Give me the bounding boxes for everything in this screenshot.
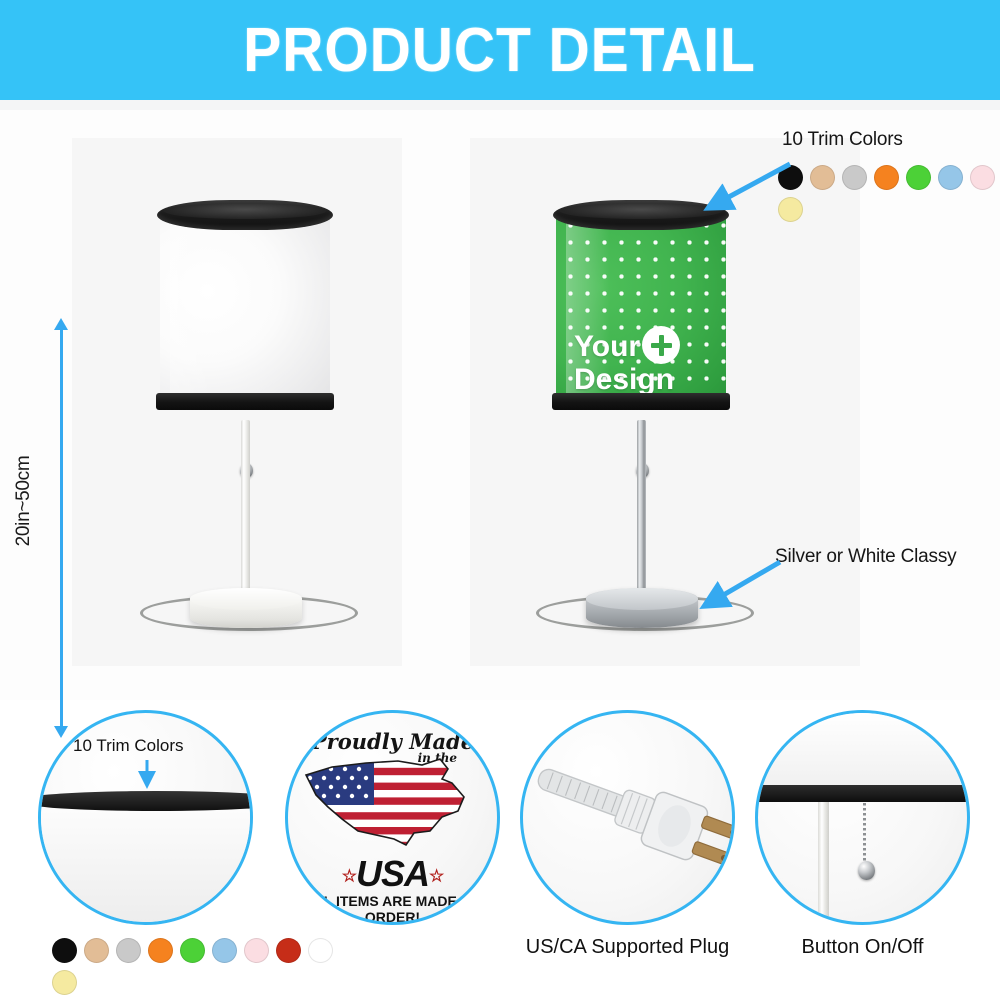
trim-swatch-gray[interactable] [116,938,141,963]
lamp-pole [818,802,829,925]
design-line-2: Design [556,363,726,396]
usa-badge: Proudly Made in the [288,713,497,922]
base-finish-label: Silver or White Classy [775,546,956,568]
made-in-usa-feature-circle: Proudly Made in the [285,710,500,925]
main-product-stage: 7in~18cm 20in~50cm [0,110,1000,700]
page-title: PRODUCT DETAIL [244,15,756,86]
pull-chain-ball[interactable] [858,861,875,880]
design-line-1: Your [556,330,726,363]
trim-swatch-green[interactable] [906,165,931,190]
usa-map-flag-icon [302,753,474,849]
feature-circle-row: 10 Trim Colors Proudly Made in the [0,700,1000,1000]
usa-sub-text: ALL ITEMS ARE MADE TO ORDER! [288,893,497,925]
star-icon-left: ☆ [342,866,356,885]
trim-swatch-white[interactable] [308,938,333,963]
shade-top-trim-inner [164,203,326,219]
shade-surface [38,801,253,925]
shade-surface [160,212,330,410]
plug-feature-circle [520,710,735,925]
switch-feature-circle [755,710,970,925]
trim-swatch-light-blue[interactable] [938,165,963,190]
power-plug-icon [523,713,732,922]
trim-swatch-orange[interactable] [148,938,173,963]
trim-swatch-pale-yellow[interactable] [52,970,77,995]
trim-swatch-light-blue[interactable] [212,938,237,963]
shade-bottom-trim [156,393,334,410]
shade-bottom-trim [552,393,730,410]
trim-color-swatch-row-3 [52,938,333,963]
shade-surface [755,713,970,793]
trim-swatch-gray[interactable] [842,165,867,190]
plug-feature-caption: US/CA Supported Plug [495,936,760,959]
page-header-band: PRODUCT DETAIL [0,0,1000,100]
trim-swatch-tan[interactable] [810,165,835,190]
trim-colors-title: 10 Trim Colors [782,129,903,151]
shade-surface: Your Design [556,212,726,410]
plus-icon [642,326,680,364]
lamp-base-top [190,588,302,610]
base-finish-pointer-arrow [690,558,790,618]
pull-chain[interactable] [863,803,866,865]
lamp-base [190,588,302,628]
left-lamp-shade [160,200,330,415]
right-lamp-shade: Your Design [556,200,726,415]
plus-icon-vertical [659,335,664,356]
lamp-base-top [586,588,698,610]
shade-top-trim [38,791,253,811]
lamp-base [586,588,698,628]
usa-script-text: Proudly Made [288,729,497,754]
trim-swatch-black[interactable] [52,938,77,963]
usa-big-text: ☆USA☆ [288,853,497,895]
lamp-pole [241,420,250,610]
height-dimension-label: 20in~50cm [13,431,35,571]
trim-colors-inner-label: 10 Trim Colors [73,736,184,756]
trim-color-swatch-row-1 [778,165,1000,190]
arrow-shaft [60,328,63,728]
trim-swatch-pink[interactable] [244,938,269,963]
trim-swatch-pink[interactable] [970,165,995,190]
trim-swatch-red[interactable] [276,938,301,963]
trim-color-swatch-row-4 [52,970,77,995]
lamp-pole [637,420,646,610]
star-icon-right: ☆ [429,866,443,885]
header-divider [0,100,1000,110]
trim-colors-down-arrow [136,758,158,790]
trim-swatch-green[interactable] [180,938,205,963]
trim-colors-pointer-arrow [690,158,800,218]
trim-swatch-orange[interactable] [874,165,899,190]
usa-word: USA [356,853,429,894]
shade-top-trim [157,200,333,230]
shade-bottom-trim [755,785,970,802]
trim-swatch-tan[interactable] [84,938,109,963]
shade-highlight [170,212,214,410]
product-detail-page: PRODUCT DETAIL 7in~18cm 20in~50cm [0,0,1000,1000]
height-dimension-arrow [54,318,68,738]
switch-feature-caption: Button On/Off [745,936,980,959]
